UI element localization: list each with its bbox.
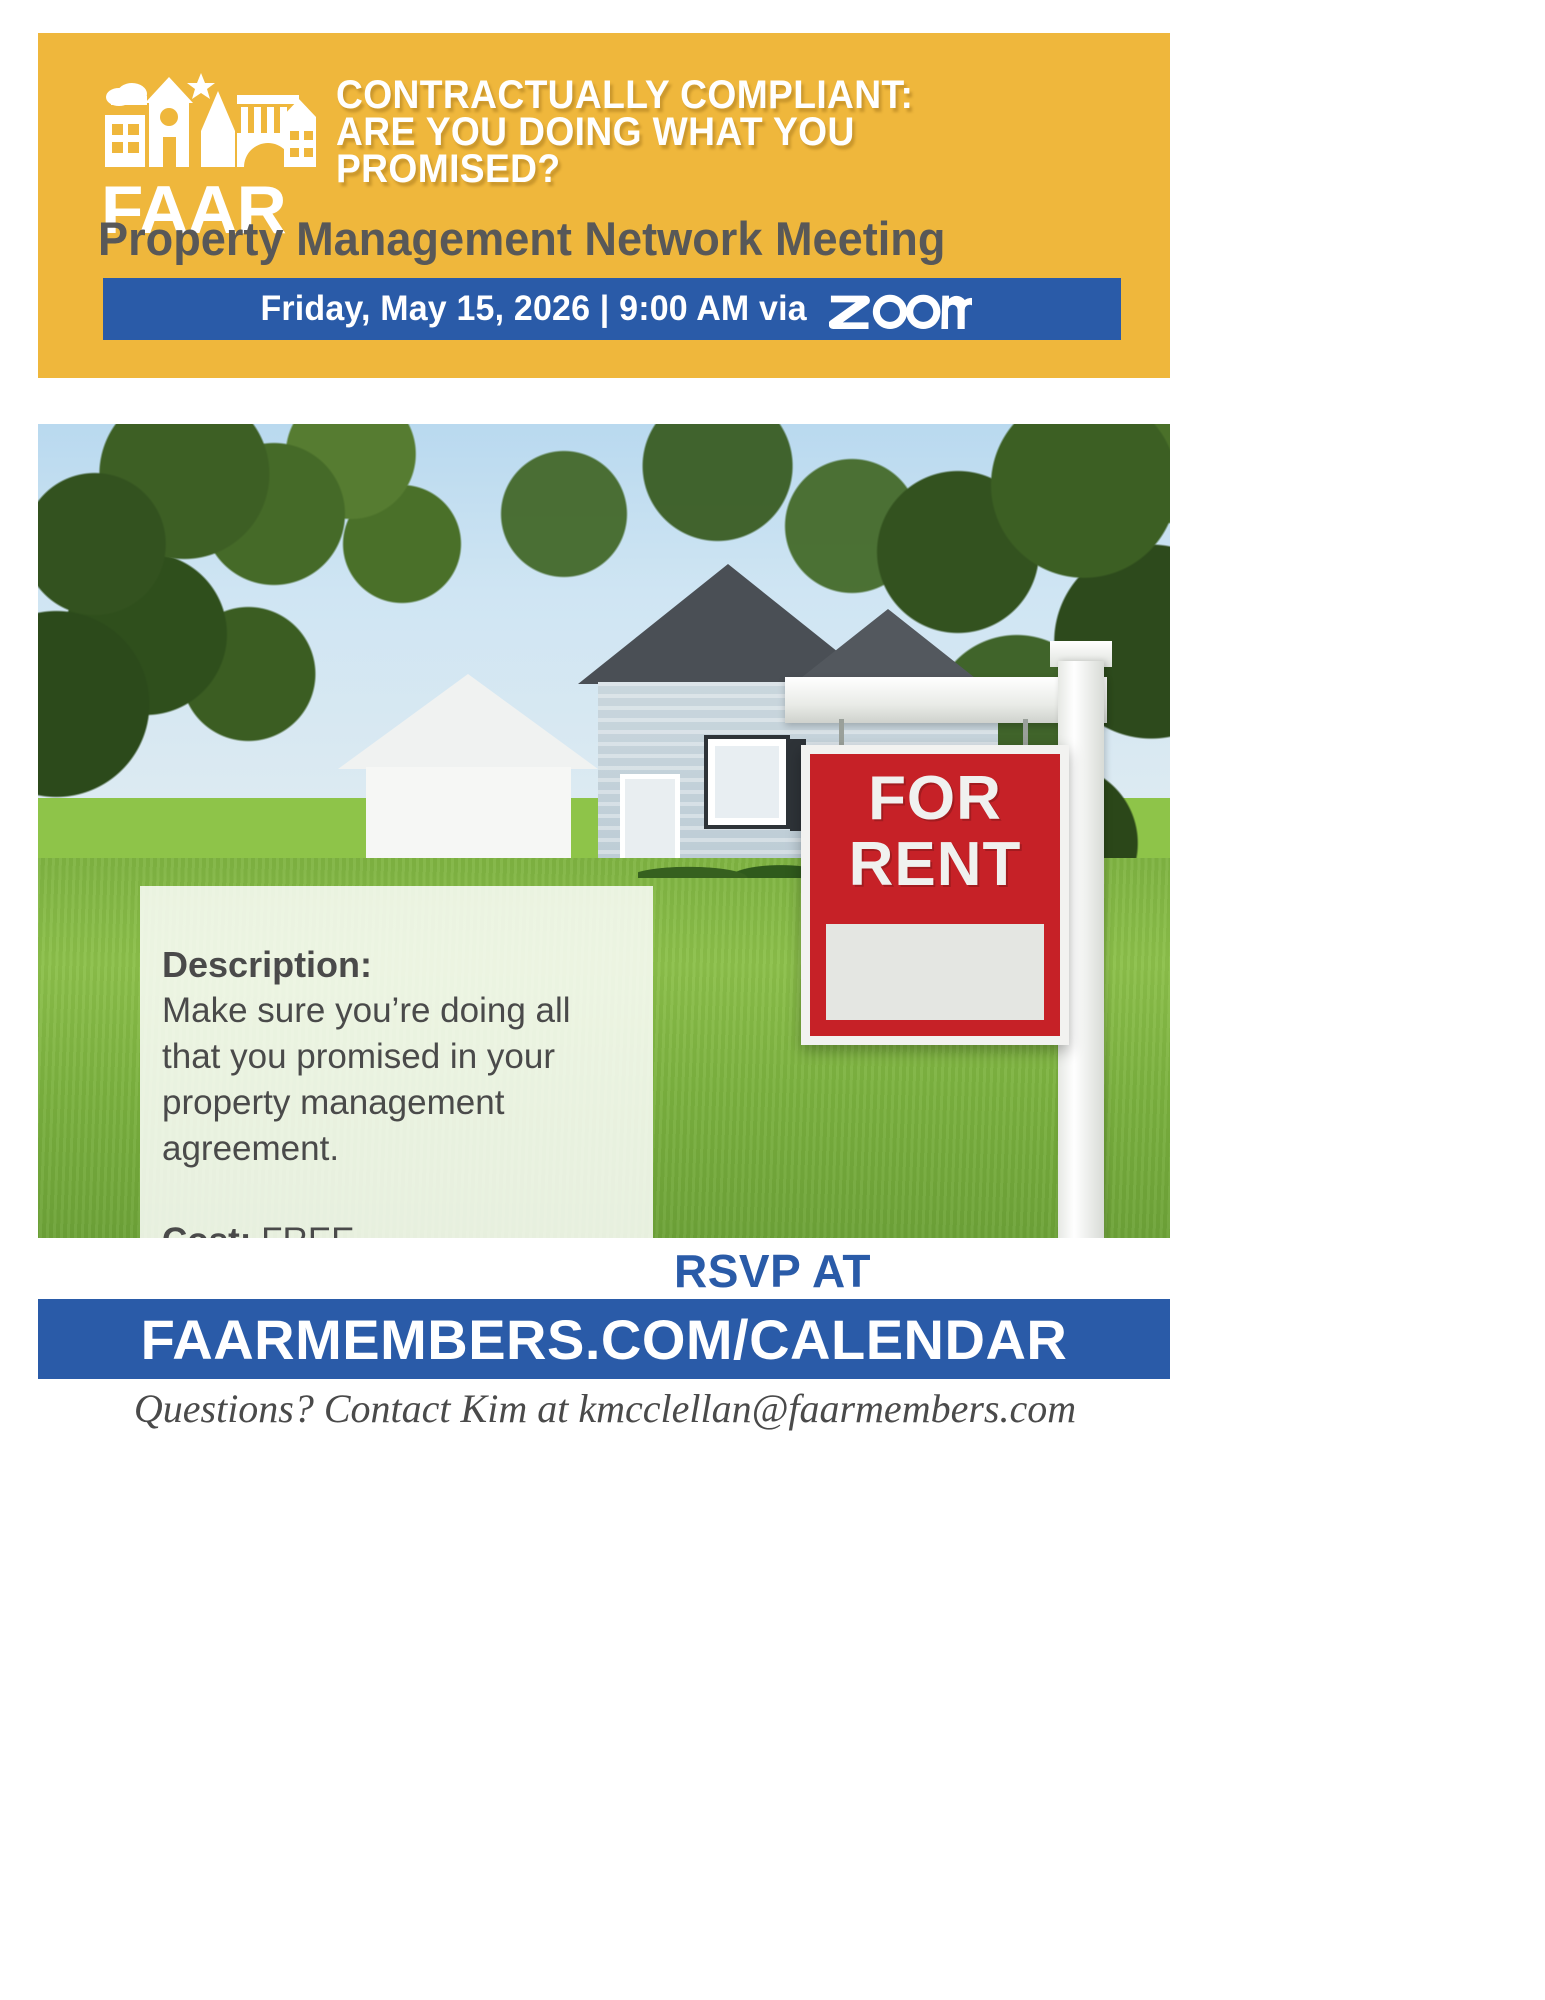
cost-row: Cost: FREE <box>162 1218 623 1238</box>
header-top-row: FAAR CONTRACTUALLY COMPLIANT: ARE YOU DO… <box>38 33 1170 288</box>
cost-label: Cost: <box>162 1221 251 1238</box>
sign-blank-panel <box>826 924 1044 1020</box>
description-overlay-box: Description: Make sure you’re doing all … <box>140 886 653 1238</box>
cost-value: FREE <box>261 1221 354 1238</box>
date-time-text: Friday, May 15, 2026 | 9:00 AM via <box>260 289 806 329</box>
date-time-bar: Friday, May 15, 2026 | 9:00 AM via <box>103 278 1121 340</box>
rsvp-url-text[interactable]: FAARMEMBERS.COM/CALENDAR <box>141 1307 1068 1372</box>
rsvp-at-heading: RSVP AT <box>0 1244 1545 1298</box>
spacer-1 <box>162 1172 623 1218</box>
headline: CONTRACTUALLY COMPLIANT: ARE YOU DOING W… <box>336 77 1080 188</box>
zoom-logo-icon <box>829 289 972 329</box>
for-rent-sign: FOR RENT <box>773 619 1170 1238</box>
rsvp-url-bar[interactable]: FAARMEMBERS.COM/CALENDAR <box>38 1299 1170 1379</box>
sign-text-for: FOR <box>810 768 1060 830</box>
sign-board: FOR RENT <box>801 745 1069 1045</box>
subtitle: Property Management Network Meeting <box>98 213 1116 265</box>
event-photo: FOR RENT Description: Make sure you’re d… <box>38 424 1170 1238</box>
contact-line: Questions? Contact Kim at kmcclellan@faa… <box>0 1385 1210 1432</box>
description-text: Make sure you’re doing all that you prom… <box>162 988 623 1172</box>
description-label: Description: <box>162 942 623 988</box>
header-banner: FAAR CONTRACTUALLY COMPLIANT: ARE YOU DO… <box>38 33 1170 378</box>
faar-skyline-icon <box>101 69 316 177</box>
sign-text-rent: RENT <box>810 834 1060 896</box>
faar-logo: FAAR <box>101 69 316 234</box>
garage-roof <box>338 674 598 769</box>
